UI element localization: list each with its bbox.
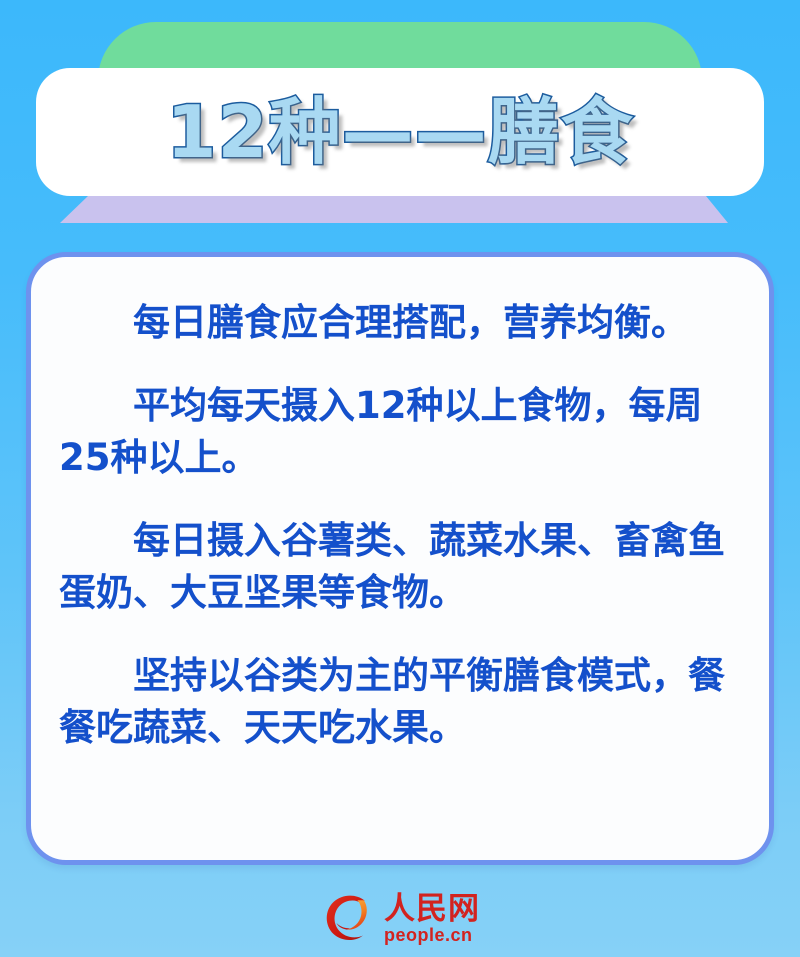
people-cn-swirl-icon: [320, 891, 376, 947]
poster-root: 12种——膳食 每日膳食应合理搭配，营养均衡。 平均每天摄入12种以上食物，每周…: [0, 0, 800, 957]
paragraph-2: 平均每天摄入12种以上食物，每周25种以上。: [59, 380, 745, 485]
site-logo[interactable]: 人民网 people.cn: [0, 888, 800, 950]
content-card: 每日膳食应合理搭配，营养均衡。 平均每天摄入12种以上食物，每周25种以上。 每…: [26, 252, 774, 865]
logo-wordmark: 人民网 people.cn: [384, 891, 480, 947]
purple-decor-trapezoid: [0, 196, 800, 224]
paragraph-3: 每日摄入谷薯类、蔬菜水果、畜禽鱼蛋奶、大豆坚果等食物。: [59, 515, 745, 620]
content-body: 每日膳食应合理搭配，营养均衡。 平均每天摄入12种以上食物，每周25种以上。 每…: [59, 297, 745, 755]
paragraph-1: 每日膳食应合理搭配，营养均衡。: [59, 297, 745, 350]
logo-domain: people.cn: [384, 926, 473, 944]
paragraph-4: 坚持以谷类为主的平衡膳食模式，餐餐吃蔬菜、天天吃水果。: [59, 650, 745, 755]
title-card: 12种——膳食: [36, 68, 764, 196]
page-title: 12种——膳食: [166, 96, 633, 168]
logo-chinese-name: 人民网: [384, 894, 480, 926]
